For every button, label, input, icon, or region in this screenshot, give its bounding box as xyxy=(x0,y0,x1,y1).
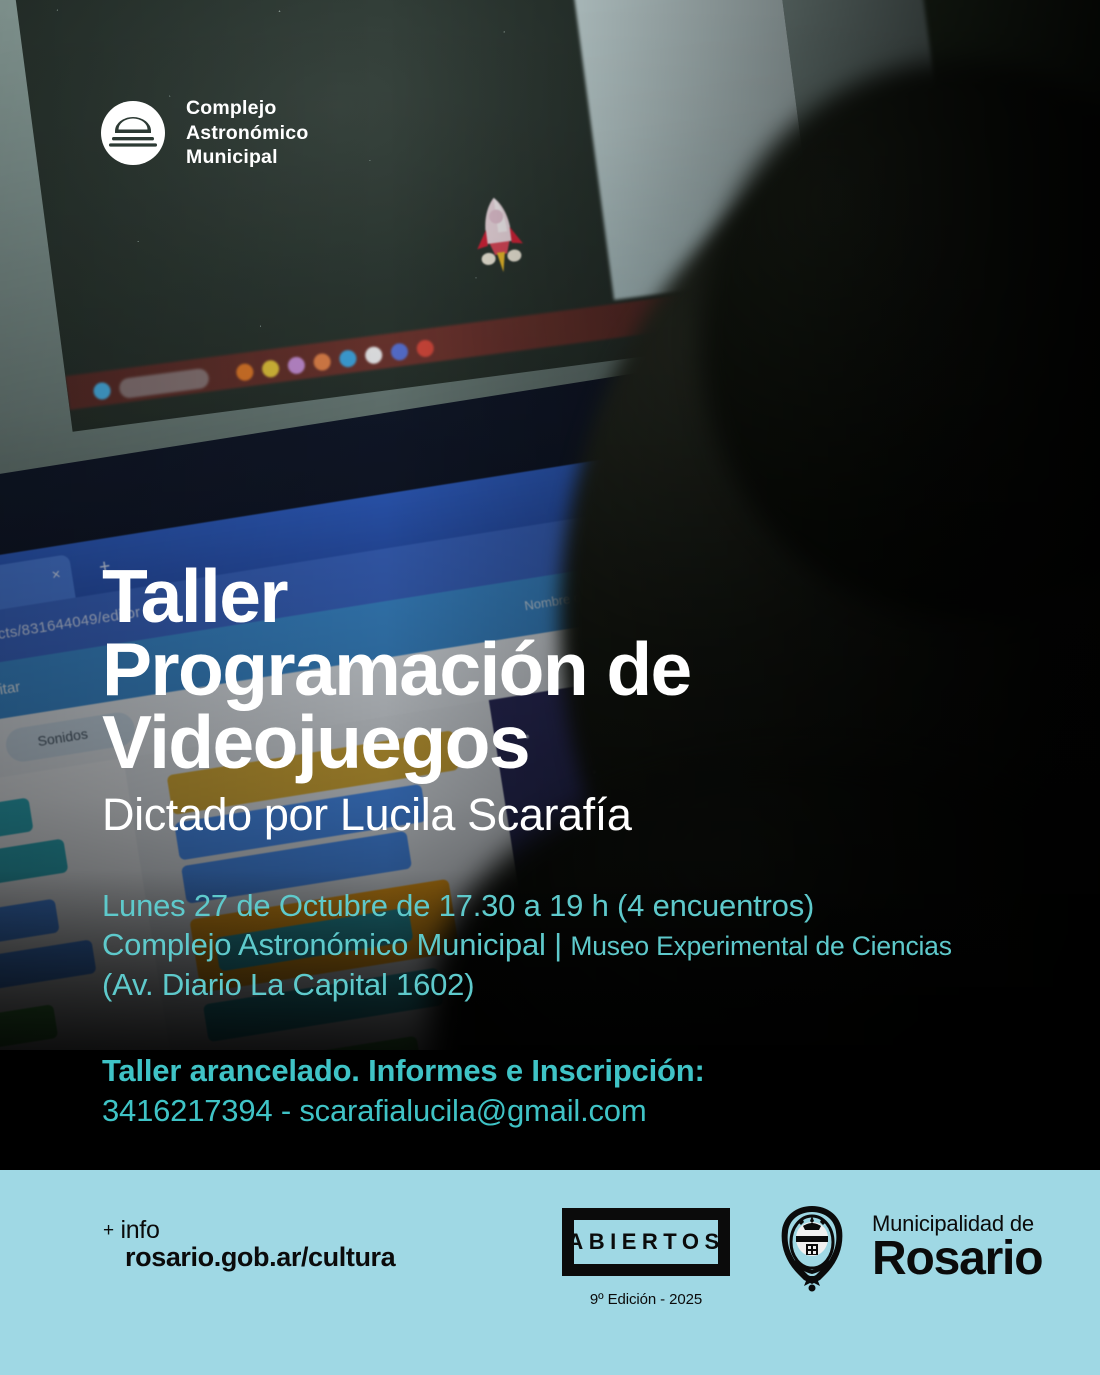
municipality-wordmark: Municipalidad de Rosario xyxy=(872,1213,1042,1284)
argentina-coat-of-arms-icon xyxy=(770,1202,854,1294)
page-title: Taller Programación de Videojuegos xyxy=(102,560,1032,778)
more-info-block: + info rosario.gob.ar/cultura xyxy=(103,1218,395,1271)
poster-footer: + info rosario.gob.ar/cultura ABIERTOS 9… xyxy=(0,1170,1100,1375)
more-info-label: + info xyxy=(103,1218,395,1243)
registration-contact[interactable]: 3416217394 - scarafialucila@gmail.com xyxy=(102,1091,1032,1131)
event-datetime: Lunes 27 de Octubre de 17.30 a 19 h (4 e… xyxy=(102,886,1032,926)
registration-info: Taller arancelado. Informes e Inscripció… xyxy=(102,1051,1032,1132)
title-line-2: Programación de xyxy=(102,633,1032,706)
plus-icon: + xyxy=(103,1220,114,1241)
brand-line-1: Complejo xyxy=(186,96,308,121)
venue-main: Complejo Astronómico Municipal | xyxy=(102,927,570,962)
more-info-word: info xyxy=(120,1216,159,1244)
title-line-3: Videojuegos xyxy=(102,706,1032,779)
municipality-line-2: Rosario xyxy=(872,1235,1042,1284)
event-details: Lunes 27 de Octubre de 17.30 a 19 h (4 e… xyxy=(102,886,1032,1005)
poster-root: Scratch × + scratch.mit.edu/projects/831… xyxy=(0,0,1100,1375)
complejo-astronomico-wordmark: Complejo Astronómico Municipal xyxy=(186,96,308,170)
abiertos-bracket-icon: ABIERTOS xyxy=(556,1200,736,1284)
abiertos-logo: ABIERTOS 9º Edición - 2025 xyxy=(556,1200,736,1308)
brand-line-2: Astronómico xyxy=(186,121,308,146)
instructor-subtitle: Dictado por Lucila Scarafía xyxy=(102,790,1032,840)
abiertos-edition: 9º Edición - 2025 xyxy=(556,1291,736,1308)
complejo-astronomico-logo: Complejo Astronómico Municipal xyxy=(100,96,308,170)
poster-content: Taller Programación de Videojuegos Dicta… xyxy=(102,560,1032,1131)
title-line-1: Taller xyxy=(102,560,1032,633)
venue-sub: Museo Experimental de Ciencias xyxy=(570,931,951,961)
website-url[interactable]: rosario.gob.ar/cultura xyxy=(125,1243,395,1271)
brand-line-3: Municipal xyxy=(186,145,308,170)
registration-heading: Taller arancelado. Informes e Inscripció… xyxy=(102,1051,1032,1091)
event-address: (Av. Diario La Capital 1602) xyxy=(102,965,1032,1005)
event-venue: Complejo Astronómico Municipal | Museo E… xyxy=(102,925,1032,965)
svg-text:ABIERTOS: ABIERTOS xyxy=(567,1229,724,1254)
municipality-logo: Municipalidad de Rosario xyxy=(770,1202,1042,1294)
observatory-dome-icon xyxy=(100,100,166,166)
